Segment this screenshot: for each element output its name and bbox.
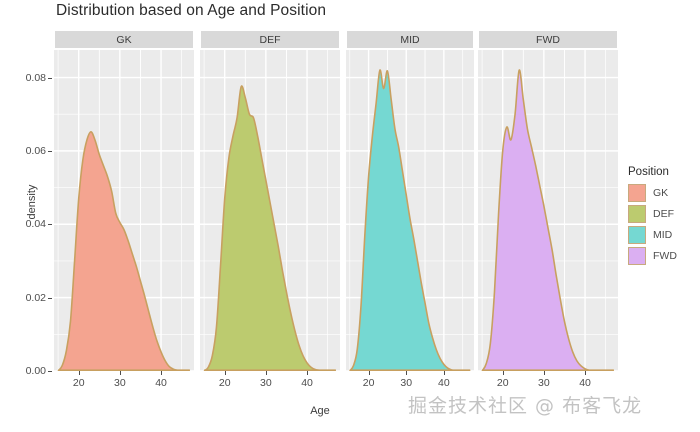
legend-item-fwd[interactable]: FWD bbox=[628, 246, 698, 266]
legend-title: Position bbox=[628, 166, 698, 178]
legend-label: DEF bbox=[653, 208, 674, 220]
facet-panel-gk: GK203040 bbox=[54, 30, 194, 371]
density-area-def bbox=[204, 86, 336, 371]
y-tick-label: 0.08 bbox=[2, 73, 46, 83]
x-tick-label: 30 bbox=[108, 377, 132, 389]
x-tick-label: 30 bbox=[394, 377, 418, 389]
panel-plot-area bbox=[54, 50, 194, 371]
y-tick-label: 0.02 bbox=[2, 293, 46, 303]
legend-item-def[interactable]: DEF bbox=[628, 204, 698, 224]
legend-item-mid[interactable]: MID bbox=[628, 225, 698, 245]
x-tick-label: 40 bbox=[573, 377, 597, 389]
y-tick-mark bbox=[48, 78, 52, 79]
x-tick-label: 40 bbox=[432, 377, 456, 389]
x-tick-mark bbox=[225, 371, 226, 375]
x-tick-label: 20 bbox=[357, 377, 381, 389]
x-tick-label: 40 bbox=[295, 377, 319, 389]
x-tick-label: 20 bbox=[213, 377, 237, 389]
y-tick-mark bbox=[48, 151, 52, 152]
panel-strip-fwd: FWD bbox=[478, 30, 618, 49]
y-tick-label: 0.04 bbox=[2, 219, 46, 229]
legend-label: FWD bbox=[653, 250, 677, 262]
x-tick-mark bbox=[120, 371, 121, 375]
x-tick-mark bbox=[79, 371, 80, 375]
y-tick-label: 0.00 bbox=[2, 366, 46, 376]
x-tick-label: 20 bbox=[67, 377, 91, 389]
panel-strip-def: DEF bbox=[200, 30, 340, 49]
panel-strip-label: GK bbox=[55, 34, 193, 46]
legend-swatch-mid bbox=[628, 226, 646, 244]
y-tick-mark bbox=[48, 298, 52, 299]
y-tick-label: 0.06 bbox=[2, 146, 46, 156]
chart-title: Distribution based on Age and Position bbox=[56, 2, 326, 20]
x-tick-mark bbox=[503, 371, 504, 375]
legend-item-gk[interactable]: GK bbox=[628, 183, 698, 203]
panel-strip-gk: GK bbox=[54, 30, 194, 49]
panel-plot-area bbox=[346, 50, 474, 371]
x-tick-mark bbox=[369, 371, 370, 375]
panel-plot-area bbox=[200, 50, 340, 371]
watermark-text: 掘金技术社区 @ 布客飞龙 bbox=[408, 391, 642, 418]
x-tick-label: 40 bbox=[149, 377, 173, 389]
x-tick-mark bbox=[585, 371, 586, 375]
legend-label: MID bbox=[653, 229, 672, 241]
x-tick-label: 30 bbox=[254, 377, 278, 389]
facet-panel-def: DEF203040 bbox=[200, 30, 340, 371]
panel-plot-area bbox=[478, 50, 618, 371]
x-tick-mark bbox=[161, 371, 162, 375]
x-tick-mark bbox=[544, 371, 545, 375]
legend-swatch-fwd bbox=[628, 247, 646, 265]
x-axis-label: Age bbox=[250, 405, 390, 417]
x-tick-label: 30 bbox=[532, 377, 556, 389]
legend-label: GK bbox=[653, 187, 668, 199]
facet-panel-mid: MID203040 bbox=[346, 30, 474, 371]
panel-strip-mid: MID bbox=[346, 30, 474, 49]
x-tick-label: 20 bbox=[491, 377, 515, 389]
panel-strip-label: DEF bbox=[201, 34, 339, 46]
x-tick-mark bbox=[406, 371, 407, 375]
facet-panel-fwd: FWD203040 bbox=[478, 30, 618, 371]
x-tick-mark bbox=[266, 371, 267, 375]
legend-swatch-gk bbox=[628, 184, 646, 202]
x-tick-mark bbox=[444, 371, 445, 375]
y-tick-mark bbox=[48, 371, 52, 372]
legend: Position GKDEFMIDFWD bbox=[628, 166, 698, 267]
legend-swatch-def bbox=[628, 205, 646, 223]
legend-items: GKDEFMIDFWD bbox=[628, 183, 698, 266]
y-axis-label: density bbox=[26, 162, 38, 242]
density-area-fwd bbox=[482, 70, 614, 371]
panel-strip-label: MID bbox=[347, 34, 473, 46]
panel-strip-label: FWD bbox=[479, 34, 617, 46]
density-chart: Distribution based on Age and Position d… bbox=[0, 0, 700, 432]
density-area-gk bbox=[58, 132, 190, 371]
y-tick-mark bbox=[48, 224, 52, 225]
x-tick-mark bbox=[307, 371, 308, 375]
